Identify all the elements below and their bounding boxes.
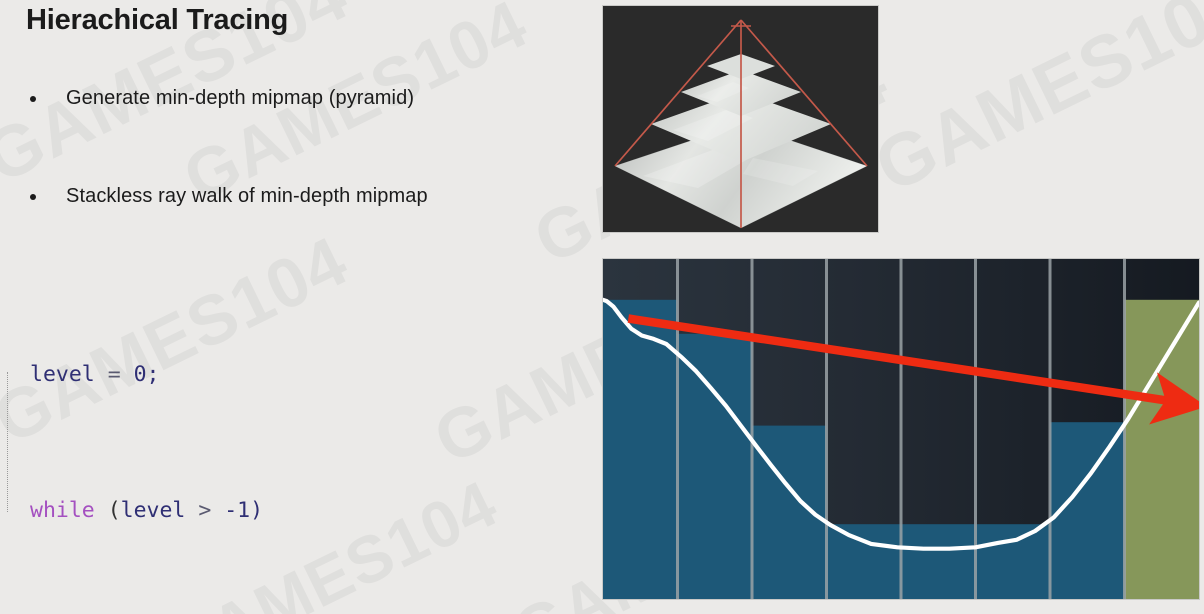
mipmap-pyramid-svg — [603, 6, 878, 232]
page-title: Hierachical Tracing — [26, 4, 288, 37]
bullet-item: Generate min-depth mipmap (pyramid) — [30, 85, 414, 111]
bullet-dot-icon — [30, 96, 36, 102]
bullet-item: Stackless ray walk of min-depth mipmap — [30, 183, 428, 209]
code-token-level: level — [30, 362, 95, 387]
bullet-text: Stackless ray walk of min-depth mipmap — [66, 183, 428, 209]
indent-guide-line — [7, 372, 8, 512]
ray-walk-depth-svg — [603, 259, 1199, 599]
code-token-paren-open: ( — [108, 498, 121, 523]
code-line: while (level > -1) — [30, 494, 431, 528]
mipmap-pyramid-figure — [602, 5, 879, 233]
depth-cell — [678, 334, 753, 599]
slide-canvas: GAMES104 GAMES104 GAMES104 GAMES104 GAME… — [0, 0, 1204, 614]
bullet-dot-icon — [30, 194, 36, 200]
code-token-while: while — [30, 498, 95, 523]
code-token-level: level — [121, 498, 186, 523]
code-token-gt: > — [198, 498, 211, 523]
watermark: GAMES104 — [862, 0, 1204, 209]
ray-walk-depth-figure — [602, 258, 1200, 600]
depth-cell — [1125, 300, 1200, 599]
code-line: level = 0; — [30, 358, 431, 392]
depth-cell — [827, 524, 902, 599]
code-token-zero: 0; — [134, 362, 160, 387]
bullet-text: Generate min-depth mipmap (pyramid) — [66, 85, 414, 111]
code-block: level = 0; while (level > -1) { stepCurr… — [30, 290, 431, 614]
depth-cell — [901, 524, 976, 599]
depth-cell — [976, 524, 1051, 599]
code-token-minus-one: -1) — [224, 498, 263, 523]
code-token-assign: = — [108, 362, 121, 387]
